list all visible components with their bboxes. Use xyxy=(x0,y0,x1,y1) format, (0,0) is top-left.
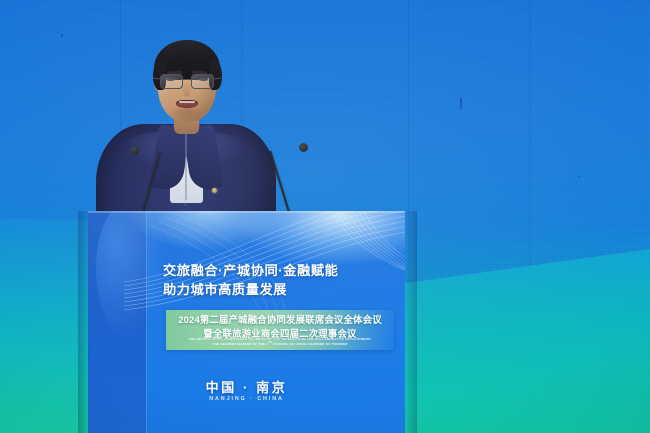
vignette-overlay xyxy=(0,0,650,433)
stage-photo: 交旅融合·产城协同·金融赋能 助力城市高质量发展 2024第二届产城融合协同发展… xyxy=(0,0,650,433)
